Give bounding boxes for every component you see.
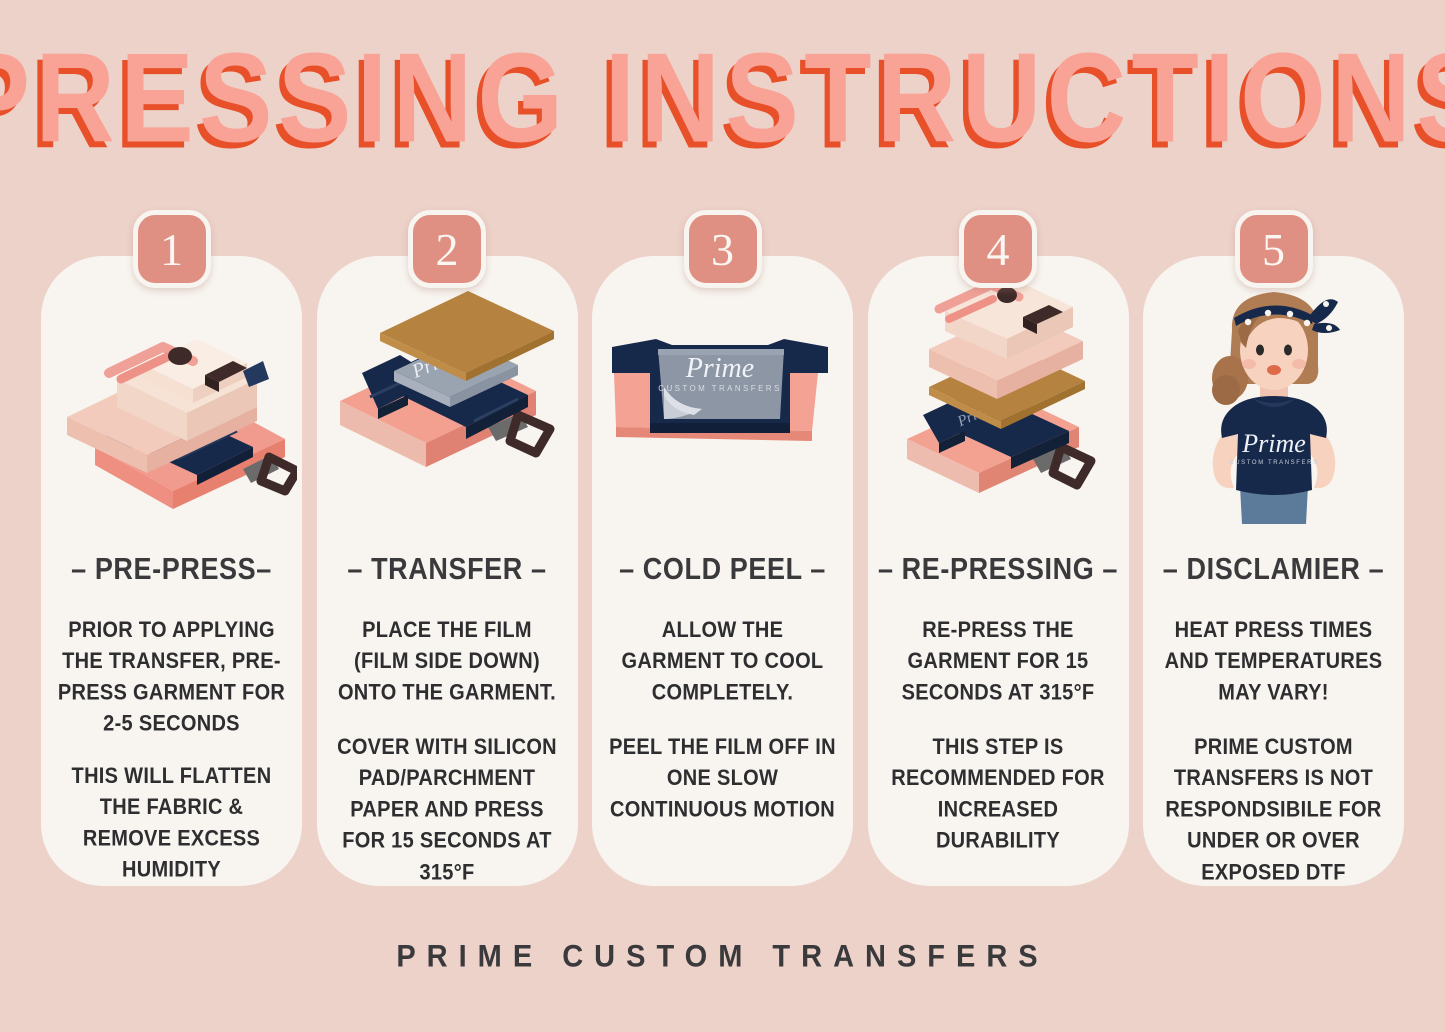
step-heading-5: – DISCLAMIER – [1163,552,1384,587]
step-heading-4: – RE-PRESSING – [878,552,1118,587]
step-badge-1: 1 [133,210,211,288]
peeling-film-shirt-icon: Prime CUSTOM TRANSFERS [592,268,853,530]
step-card-1: 1 [41,256,302,886]
brand-mark-name: Prime [684,353,753,384]
woman-wearing-shirt-icon: Prime CUSTOM TRANSFERS [1143,268,1404,530]
page-header: PRESSING INSTRUCTIONS [0,34,1445,154]
footer-brand: PRIME CUSTOM TRANSFERS [0,940,1445,976]
step-paragraph: ALLOW THE GARMENT TO COOL COMPLETELY. [608,615,838,709]
step-paragraph: PLACE THE FILM (FILM SIDE DOWN) ONTO THE… [332,615,562,709]
svg-text:CUSTOM TRANSFERS: CUSTOM TRANSFERS [1229,460,1318,466]
svg-text:Prime: Prime [1241,429,1306,458]
step-badge-5: 5 [1235,210,1313,288]
step-card-2: 2 Prime [317,256,578,886]
step-card-4: 4 Prime [868,256,1129,886]
step-heading-2: – TRANSFER – [347,552,546,587]
film-on-garment-icon: Prime [317,268,578,530]
step-card-5: 5 [1143,256,1404,886]
step-badge-4: 4 [959,210,1037,288]
step-paragraph: PRIOR TO APPLYING THE TRANSFER, PRE-PRES… [57,615,287,740]
step-paragraph: HEAT PRESS TIMES AND TEMPERATURES MAY VA… [1159,615,1389,709]
step-card-3: 3 Prime CUSTOM T [592,256,853,886]
exploded-press-stack-icon: Prime [868,268,1129,530]
step-heading-1: – PRE-PRESS– [71,552,272,587]
step-paragraph: PRIME CUSTOM TRANSFERS IS NOT RESPONDSIB… [1159,732,1389,888]
step-body-4: RE-PRESS THE GARMENT FOR 15 SECONDS AT 3… [883,615,1113,846]
step-heading-3: – COLD PEEL – [619,552,826,587]
step-paragraph: THIS WILL FLATTEN THE FABRIC & REMOVE EX… [57,761,287,886]
step-body-3: ALLOW THE GARMENT TO COOL COMPLETELY. PE… [608,615,838,817]
brand-mark-tagline: CUSTOM TRANSFERS [658,384,781,393]
step-paragraph: THIS STEP IS RECOMMENDED FOR INCREASED D… [883,732,1113,857]
step-paragraph: COVER WITH SILICON PAD/PARCHMENT PAPER A… [332,732,562,888]
step-paragraph: RE-PRESS THE GARMENT FOR 15 SECONDS AT 3… [883,615,1113,709]
page-title: PRESSING INSTRUCTIONS [0,34,1445,163]
step-body-1: PRIOR TO APPLYING THE TRANSFER, PRE-PRES… [57,615,287,874]
heat-press-closed-icon [41,268,302,530]
step-badge-3: 3 [684,210,762,288]
step-badge-2: 2 [408,210,486,288]
step-paragraph: PEEL THE FILM OFF IN ONE SLOW CONTINUOUS… [608,732,838,826]
steps-container: 1 [41,256,1404,886]
step-body-5: HEAT PRESS TIMES AND TEMPERATURES MAY VA… [1159,615,1389,874]
step-body-2: PLACE THE FILM (FILM SIDE DOWN) ONTO THE… [332,615,562,874]
